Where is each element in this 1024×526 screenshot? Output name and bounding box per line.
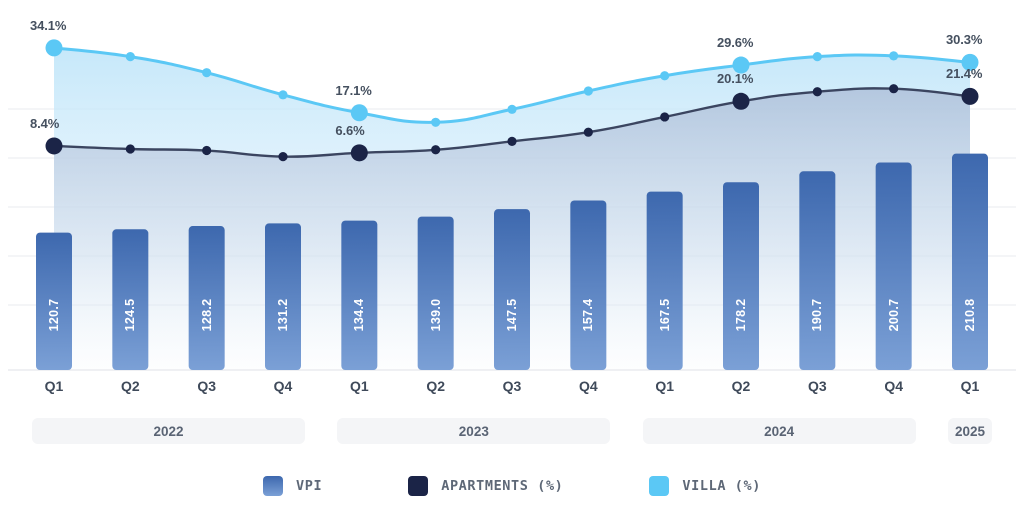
chart-legend: VPIAPARTMENTS (%)VILLA (%) xyxy=(0,466,1024,506)
bar xyxy=(494,209,530,370)
x-axis-year-bands: 2022202320242025 xyxy=(0,418,1024,446)
x-tick-label: Q4 xyxy=(560,378,616,394)
villa-data-point xyxy=(202,68,211,77)
bar xyxy=(112,229,148,370)
x-tick-label: Q3 xyxy=(789,378,845,394)
x-tick-label: Q1 xyxy=(331,378,387,394)
point-value-label: 30.3% xyxy=(946,32,982,47)
x-tick-label: Q2 xyxy=(713,378,769,394)
apartments-data-point xyxy=(126,144,135,153)
bar xyxy=(418,217,454,370)
villa-data-point xyxy=(889,51,898,60)
bar xyxy=(265,223,301,370)
villa-data-point xyxy=(660,71,669,80)
apartments-data-point xyxy=(813,87,822,96)
villa-data-point xyxy=(507,105,516,114)
apartments-data-point xyxy=(962,88,979,105)
point-value-label: 20.1% xyxy=(717,71,753,86)
x-tick-label: Q2 xyxy=(408,378,464,394)
apartments-data-point xyxy=(507,137,516,146)
villa-data-point xyxy=(813,52,822,61)
point-value-label: 6.6% xyxy=(335,123,364,138)
legend-item[interactable]: VPI xyxy=(263,476,322,496)
x-tick-label: Q1 xyxy=(942,378,998,394)
bar xyxy=(647,192,683,370)
x-tick-label: Q4 xyxy=(866,378,922,394)
bar xyxy=(952,154,988,370)
apartments-data-point xyxy=(431,145,440,154)
villa-data-point xyxy=(46,39,63,56)
bar xyxy=(876,163,912,370)
point-value-label: 29.6% xyxy=(717,35,753,50)
x-tick-label: Q2 xyxy=(102,378,158,394)
x-tick-label: Q3 xyxy=(484,378,540,394)
apartments-data-point xyxy=(278,152,287,161)
bar xyxy=(723,182,759,370)
legend-label: APARTMENTS (%) xyxy=(441,478,563,494)
bar xyxy=(341,221,377,370)
villa-data-point xyxy=(431,118,440,127)
x-tick-label: Q1 xyxy=(637,378,693,394)
year-band: 2024 xyxy=(643,418,916,444)
bar xyxy=(799,171,835,370)
villa-data-point xyxy=(278,90,287,99)
x-tick-label: Q1 xyxy=(26,378,82,394)
chart-root: 120.7124.5128.2131.2134.4139.0147.5157.4… xyxy=(0,0,1024,526)
villa-data-point xyxy=(584,86,593,95)
apartments-data-point xyxy=(46,137,63,154)
bar xyxy=(570,200,606,370)
legend-item[interactable]: VILLA (%) xyxy=(649,476,761,496)
bar xyxy=(189,226,225,370)
x-tick-label: Q4 xyxy=(255,378,311,394)
point-value-label: 8.4% xyxy=(30,116,59,131)
bar xyxy=(36,233,72,370)
year-band: 2022 xyxy=(32,418,305,444)
villa-data-point xyxy=(351,104,368,121)
apartments-data-point xyxy=(889,84,898,93)
legend-item[interactable]: APARTMENTS (%) xyxy=(408,476,563,496)
chart-svg xyxy=(0,0,1024,372)
apartments-data-point xyxy=(584,128,593,137)
x-axis-quarter-ticks: Q1Q2Q3Q4Q1Q2Q3Q4Q1Q2Q3Q4Q1 xyxy=(0,372,1024,412)
legend-label: VPI xyxy=(296,478,322,494)
apartments-data-point xyxy=(202,146,211,155)
apartments-data-point xyxy=(351,144,368,161)
year-band: 2025 xyxy=(948,418,992,444)
legend-swatch-vpi xyxy=(263,476,283,496)
legend-label: VILLA (%) xyxy=(682,478,761,494)
point-value-label: 21.4% xyxy=(946,66,982,81)
x-tick-label: Q3 xyxy=(179,378,235,394)
villa-data-point xyxy=(126,52,135,61)
year-band: 2023 xyxy=(337,418,610,444)
point-value-label: 17.1% xyxy=(335,83,371,98)
plot-area: 120.7124.5128.2131.2134.4139.0147.5157.4… xyxy=(0,0,1024,372)
apartments-data-point xyxy=(660,112,669,121)
legend-swatch-apartments xyxy=(408,476,428,496)
legend-swatch-villa xyxy=(649,476,669,496)
apartments-data-point xyxy=(733,93,750,110)
point-value-label: 34.1% xyxy=(30,18,66,33)
